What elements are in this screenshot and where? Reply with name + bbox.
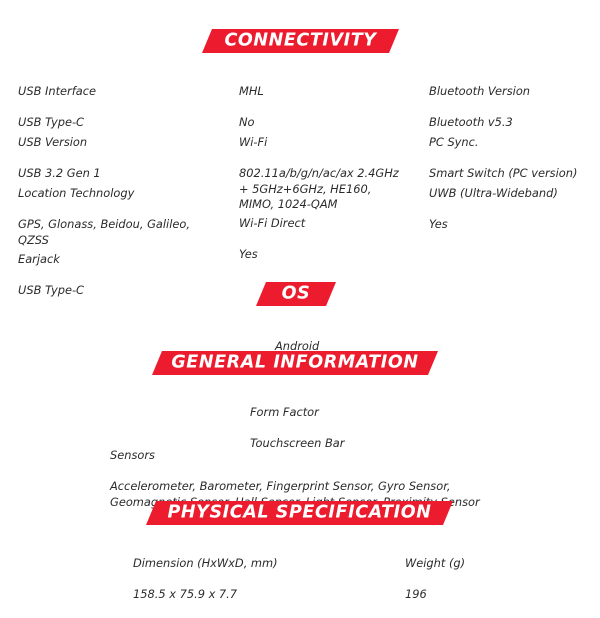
- spec-value-dimension: 158.5 x 75.9 x 7.7: [133, 587, 278, 602]
- spec-item-earjack: Earjack USB Type-C: [18, 237, 84, 314]
- spec-label-dimension: Dimension (HxWxD, mm): [133, 556, 278, 571]
- spec-label-form-factor: Form Factor: [250, 405, 344, 420]
- section-heading-physical-specification: PHYSICAL SPECIFICATION: [146, 501, 453, 525]
- spec-label-sensors: Sensors: [110, 448, 480, 463]
- spec-label-earjack: Earjack: [18, 252, 84, 267]
- section-heading-general-information-label: GENERAL INFORMATION: [171, 353, 418, 373]
- spec-item-weight: Weight (g) 196: [405, 541, 465, 618]
- section-heading-os-label: OS: [282, 284, 311, 304]
- spec-label-wifi: Wi-Fi: [239, 135, 399, 150]
- section-heading-connectivity-label: CONNECTIVITY: [224, 31, 376, 51]
- spec-label-weight: Weight (g): [405, 556, 465, 571]
- spec-label-uwb: UWB (Ultra-Wideband): [429, 186, 558, 201]
- spec-label-usb-interface: USB Interface: [18, 84, 96, 99]
- spec-value-earjack: USB Type-C: [18, 283, 84, 298]
- spec-sheet: CONNECTIVITY USB Interface USB Type-C US…: [0, 0, 600, 600]
- spec-label-wifi-direct: Wi-Fi Direct: [239, 216, 305, 231]
- section-heading-general-information: GENERAL INFORMATION: [152, 351, 438, 375]
- spec-label-pc-sync: PC Sync.: [429, 135, 577, 150]
- spec-label-bluetooth-version: Bluetooth Version: [429, 84, 530, 99]
- spec-label-location-technology: Location Technology: [18, 186, 190, 201]
- spec-label-mhl: MHL: [239, 84, 264, 99]
- section-heading-physical-specification-label: PHYSICAL SPECIFICATION: [168, 503, 432, 523]
- spec-value-weight: 196: [405, 587, 465, 602]
- section-heading-connectivity: CONNECTIVITY: [202, 29, 399, 53]
- spec-label-usb-version: USB Version: [18, 135, 101, 150]
- spec-value-wifi-direct: Yes: [239, 247, 305, 262]
- section-heading-os: OS: [256, 282, 336, 306]
- spec-value-uwb: Yes: [429, 217, 558, 232]
- spec-item-wifi-direct: Wi-Fi Direct Yes: [239, 201, 305, 278]
- spec-item-uwb: UWB (Ultra-Wideband) Yes: [429, 171, 558, 248]
- spec-item-dimension: Dimension (HxWxD, mm) 158.5 x 75.9 x 7.7: [133, 541, 278, 618]
